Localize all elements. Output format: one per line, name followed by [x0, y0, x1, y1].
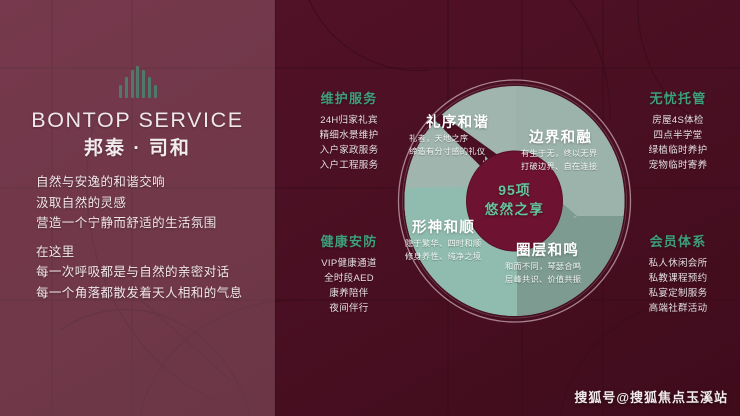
brand-title-en: BONTOP SERVICE [0, 108, 275, 133]
service-item: 入户工程服务 [293, 158, 405, 173]
core-label-name: 悠然之享 [393, 198, 636, 218]
quadrant-sub-bottom-right: 和而不同，琴瑟合鸣 层峰共识、价值共振 [505, 260, 581, 286]
pinwheel-diagram: 礼序和谐 礼者，天地之序 缔造有分寸感的礼仪 边界和融 有生于无，终以无界 打破… [393, 76, 636, 326]
service-column-huiyuan: 会员体系 私人休闲会所 私教课程预约 私宴定制服务 高端社群活动 [622, 231, 734, 316]
quadrant-sub-line: 层峰共识、价值共振 [505, 273, 581, 286]
lead-copy-line: 在这里 [36, 242, 266, 263]
quadrant-sub-bottom-left: 隐于繁华、四时和顺 修身养性、纯净之境 [405, 237, 481, 263]
service-column-title: 健康安防 [293, 231, 405, 250]
core-label-count: 95项 [393, 180, 636, 200]
lead-copy: 自然与安逸的和谐交响 汲取自然的灵感 营造一个宁静而舒适的生活氛围 在这里 每一… [36, 172, 266, 303]
lead-copy-line: 每一次呼吸都是与自然的亲密对话 [36, 262, 266, 283]
service-column-title: 会员体系 [622, 231, 734, 250]
service-item: 入户家政服务 [293, 143, 405, 158]
quadrant-sub-line: 有生于无，终以无界 [521, 147, 597, 160]
quadrant-title-bottom-left: 形神和顺 [412, 216, 475, 237]
service-item: 康养陪伴 [293, 286, 405, 301]
lead-copy-line: 自然与安逸的和谐交响 [36, 172, 266, 193]
watermark-text: 搜狐号@搜狐焦点玉溪站 [574, 387, 728, 406]
quadrant-title-bottom-right: 圈层和鸣 [516, 239, 579, 260]
service-column-title: 维护服务 [293, 88, 405, 107]
quadrant-sub-top-right: 有生于无，终以无界 打破边界、自在连接 [521, 147, 597, 173]
quadrant-sub-top-left: 礼者，天地之序 缔造有分寸感的礼仪 [409, 132, 485, 158]
lead-copy-line: 营造一个宁静而舒适的生活氛围 [36, 213, 266, 234]
service-column-weihu: 维护服务 24H归家礼宾 精细水景维护 入户家政服务 入户工程服务 [293, 88, 405, 173]
service-item: 高端社群活动 [622, 301, 734, 316]
service-item: 房屋4S体检 [622, 113, 734, 128]
quadrant-sub-line: 礼者，天地之序 [409, 132, 485, 145]
vertical-bars-ornament-icon [119, 66, 157, 98]
quadrant-sub-line: 修身养性、纯净之境 [405, 250, 481, 263]
service-item: 24H归家礼宾 [293, 113, 405, 128]
service-item: VIP健康通道 [293, 256, 405, 271]
brand-panel: BONTOP SERVICE 邦泰 · 司和 自然与安逸的和谐交响 汲取自然的灵… [0, 0, 275, 416]
service-column-wuyou: 无忧托管 房屋4S体检 四点半学堂 绿植临时养护 宠物临时寄养 [622, 88, 734, 173]
service-item: 宠物临时寄养 [622, 158, 734, 173]
service-item: 私人休闲会所 [622, 256, 734, 271]
service-item: 四点半学堂 [622, 128, 734, 143]
quadrant-title-top-right: 边界和融 [529, 126, 592, 147]
brand-title-cn: 邦泰 · 司和 [0, 133, 275, 160]
service-item: 夜间伴行 [293, 301, 405, 316]
service-column-title: 无忧托管 [622, 88, 734, 107]
service-item: 绿植临时养护 [622, 143, 734, 158]
slide-canvas: BONTOP SERVICE 邦泰 · 司和 自然与安逸的和谐交响 汲取自然的灵… [0, 0, 740, 416]
service-item: 私教课程预约 [622, 271, 734, 286]
lead-copy-line: 每一个角落都散发着天人相和的气息 [36, 283, 266, 304]
quadrant-sub-line: 隐于繁华、四时和顺 [405, 237, 481, 250]
service-item: 精细水景维护 [293, 128, 405, 143]
lead-copy-line: 汲取自然的灵感 [36, 193, 266, 214]
service-item: 全时段AED [293, 271, 405, 286]
service-column-jiankang: 健康安防 VIP健康通道 全时段AED 康养陪伴 夜间伴行 [293, 231, 405, 316]
copy-spacer [36, 234, 266, 242]
quadrant-sub-line: 和而不同，琴瑟合鸣 [505, 260, 581, 273]
service-item: 私宴定制服务 [622, 286, 734, 301]
quadrant-title-top-left: 礼序和谐 [426, 111, 489, 132]
quadrant-sub-line: 打破边界、自在连接 [521, 160, 597, 173]
quadrant-sub-line: 缔造有分寸感的礼仪 [409, 145, 485, 158]
